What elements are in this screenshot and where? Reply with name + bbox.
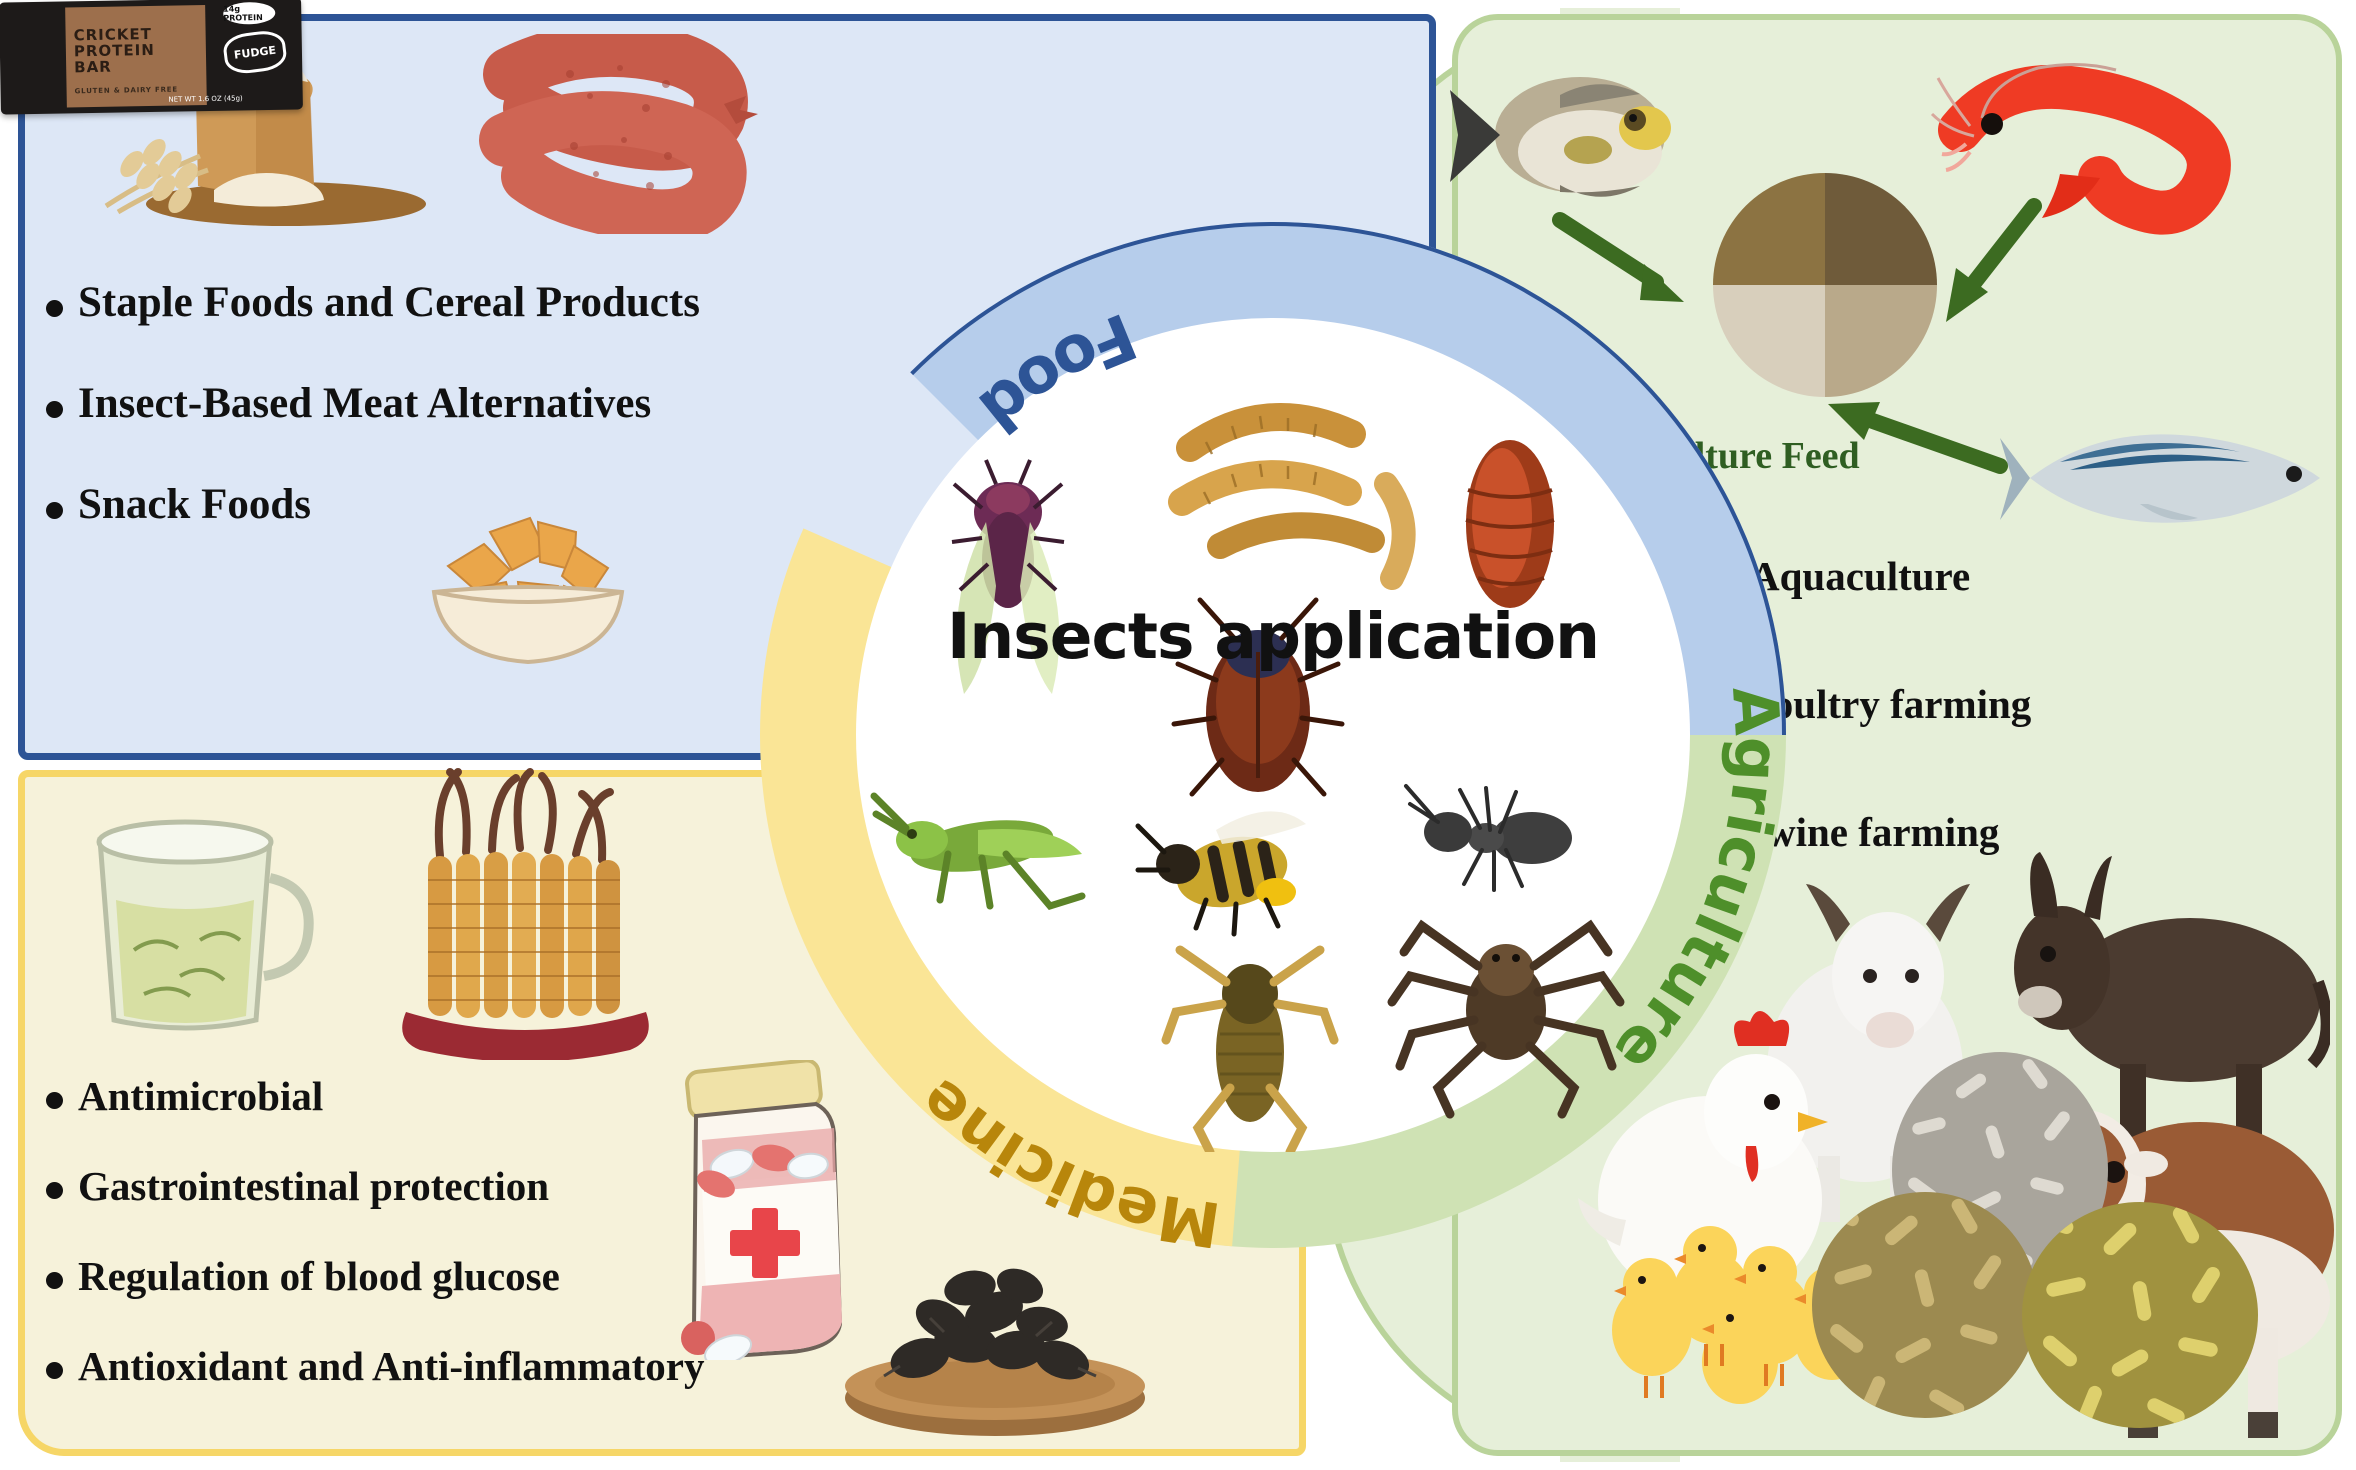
bullet-dot-icon — [46, 1092, 63, 1109]
bullet-text: Aquaculture — [1750, 552, 1970, 600]
list-item: Staple Foods and Cereal Products — [46, 278, 700, 327]
grasshopper-image — [874, 796, 1082, 906]
tan-pellets-image — [1810, 1190, 2040, 1420]
insect-collage — [856, 318, 1690, 1152]
cricket-protein-bar-image: CRICKET PROTEIN BAR GLUTEN & DAIRY FREE … — [0, 0, 303, 115]
mixed-feed-pie-image — [1710, 170, 1940, 400]
bullet-text: Antimicrobial — [78, 1072, 323, 1120]
sea-bream-fish-image — [1440, 60, 1690, 210]
ant-image — [1406, 786, 1572, 890]
honeybee-image — [1138, 811, 1306, 934]
food-bullet-list: Staple Foods and Cereal Products Insect-… — [46, 278, 700, 581]
protein-bar-flavor: FUDGE — [222, 29, 288, 76]
bullet-text: Insect-Based Meat Alternatives — [78, 379, 651, 428]
protein-bar-line3: BAR — [74, 58, 112, 77]
arrow-shrimp-to-feed-icon — [1930, 198, 2060, 338]
medicine-bullet-list: Antimicrobial Gastrointestinal protectio… — [46, 1072, 704, 1432]
protein-bar-badge: 14g PROTEIN — [223, 2, 275, 25]
bullet-text: Gastrointestinal protection — [78, 1162, 549, 1210]
bullet-text: Regulation of blood glucose — [78, 1252, 560, 1300]
yellow-pellets-image — [2020, 1200, 2260, 1430]
mealworms-image — [1182, 416, 1404, 578]
protein-bar-title: CRICKET PROTEIN BAR — [73, 26, 155, 75]
list-item: Antimicrobial — [46, 1072, 704, 1120]
central-donut: Food Agriculture Medicine — [760, 222, 1786, 1248]
bullet-dot-icon — [46, 401, 63, 418]
list-item: Insect-Based Meat Alternatives — [46, 379, 700, 428]
list-item: Regulation of blood glucose — [46, 1252, 704, 1300]
bullet-text: Snack Foods — [78, 480, 311, 529]
bullet-text: Antioxidant and Anti-inflammatory — [78, 1342, 704, 1390]
sausages-image — [470, 34, 760, 234]
tarantula-image — [1392, 926, 1620, 1114]
mackerel-fish-image — [2000, 400, 2330, 550]
bullet-dot-icon — [46, 1362, 63, 1379]
mole-cricket-image — [1166, 950, 1334, 1152]
bullet-dot-icon — [46, 1182, 63, 1199]
arrow-fish-to-feed-icon — [1552, 206, 1702, 316]
bullet-text: swine farming — [1750, 808, 1999, 856]
pupa-image — [1466, 440, 1554, 608]
list-item: Snack Foods — [46, 480, 700, 529]
herbal-tea-glass-image — [60, 800, 320, 1050]
protein-bar-net-weight: NET WT 1.6 OZ (45g) — [168, 94, 242, 103]
page-title: Insects application — [760, 600, 1786, 673]
bullet-dot-icon — [46, 502, 63, 519]
bullet-dot-icon — [46, 1272, 63, 1289]
bullet-text: Staple Foods and Cereal Products — [78, 278, 700, 327]
dried-black-insects-image — [830, 1240, 1160, 1440]
cordyceps-bundle-image — [380, 760, 670, 1060]
list-item: Gastrointestinal protection — [46, 1162, 704, 1210]
bullet-dot-icon — [46, 300, 63, 317]
bullet-text: poultry farming — [1750, 680, 2031, 728]
infographic-canvas: Aquaculture Feed — [0, 0, 2356, 1470]
list-item: Antioxidant and Anti-inflammatory — [46, 1342, 704, 1390]
